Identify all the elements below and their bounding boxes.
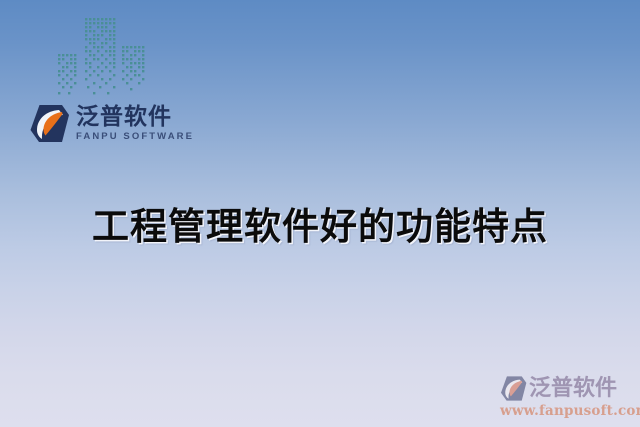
brand-text: 泛普软件 FANPU SOFTWARE	[76, 106, 194, 142]
presentation-slide: 泛普软件 FANPU SOFTWARE 工程管理软件好的功能特点 泛普软件 ww…	[0, 0, 640, 427]
brand-name-en: FANPU SOFTWARE	[76, 132, 194, 142]
watermark-brand: 泛普软件	[500, 375, 634, 402]
watermark-name-cn: 泛普软件	[529, 378, 617, 400]
watermark: 泛普软件 www.fanpusoft.com	[500, 375, 634, 419]
brand-logo: 泛普软件 FANPU SOFTWARE	[29, 103, 194, 144]
slide-title: 工程管理软件好的功能特点	[0, 196, 640, 250]
watermark-url: www.fanpusoft.com	[500, 403, 634, 419]
fanpu-logo-icon	[29, 103, 70, 144]
brand-name-cn: 泛普软件	[76, 106, 194, 129]
pixel-skyline-icon	[56, 16, 148, 100]
watermark-fanpu-logo-icon	[500, 375, 527, 402]
